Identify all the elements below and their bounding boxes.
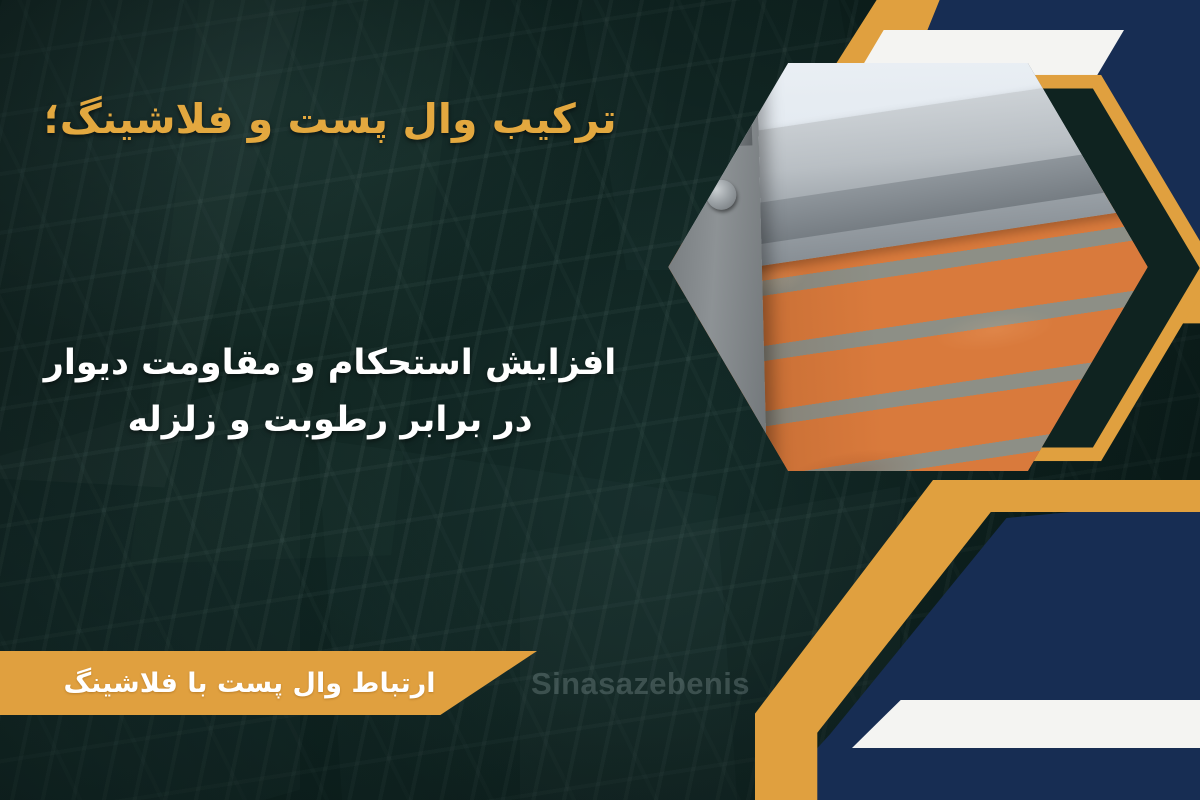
banner-canvas: ترکیب وال پست و فلاشینگ؛ افزایش استحکام … [0,0,1200,800]
watermark: Sinasazebenis [531,666,750,702]
photo-bolt-icon [706,179,736,209]
footer-banner-label: ارتباط وال پست با فلاشینگ [0,668,537,699]
photo-post-cap [695,76,752,148]
bottom-right-white-stripe [852,700,1200,748]
page-subtitle-line-2: در برابر رطوبت و زلزله [0,392,660,449]
hero-image-frame [690,12,1190,522]
page-subtitle-line-1: افزایش استحکام و مقاومت دیوار [44,343,617,383]
page-title: ترکیب وال پست و فلاشینگ؛ [0,92,660,147]
page-subtitle: افزایش استحکام و مقاومت دیوار در برابر ر… [0,335,660,448]
